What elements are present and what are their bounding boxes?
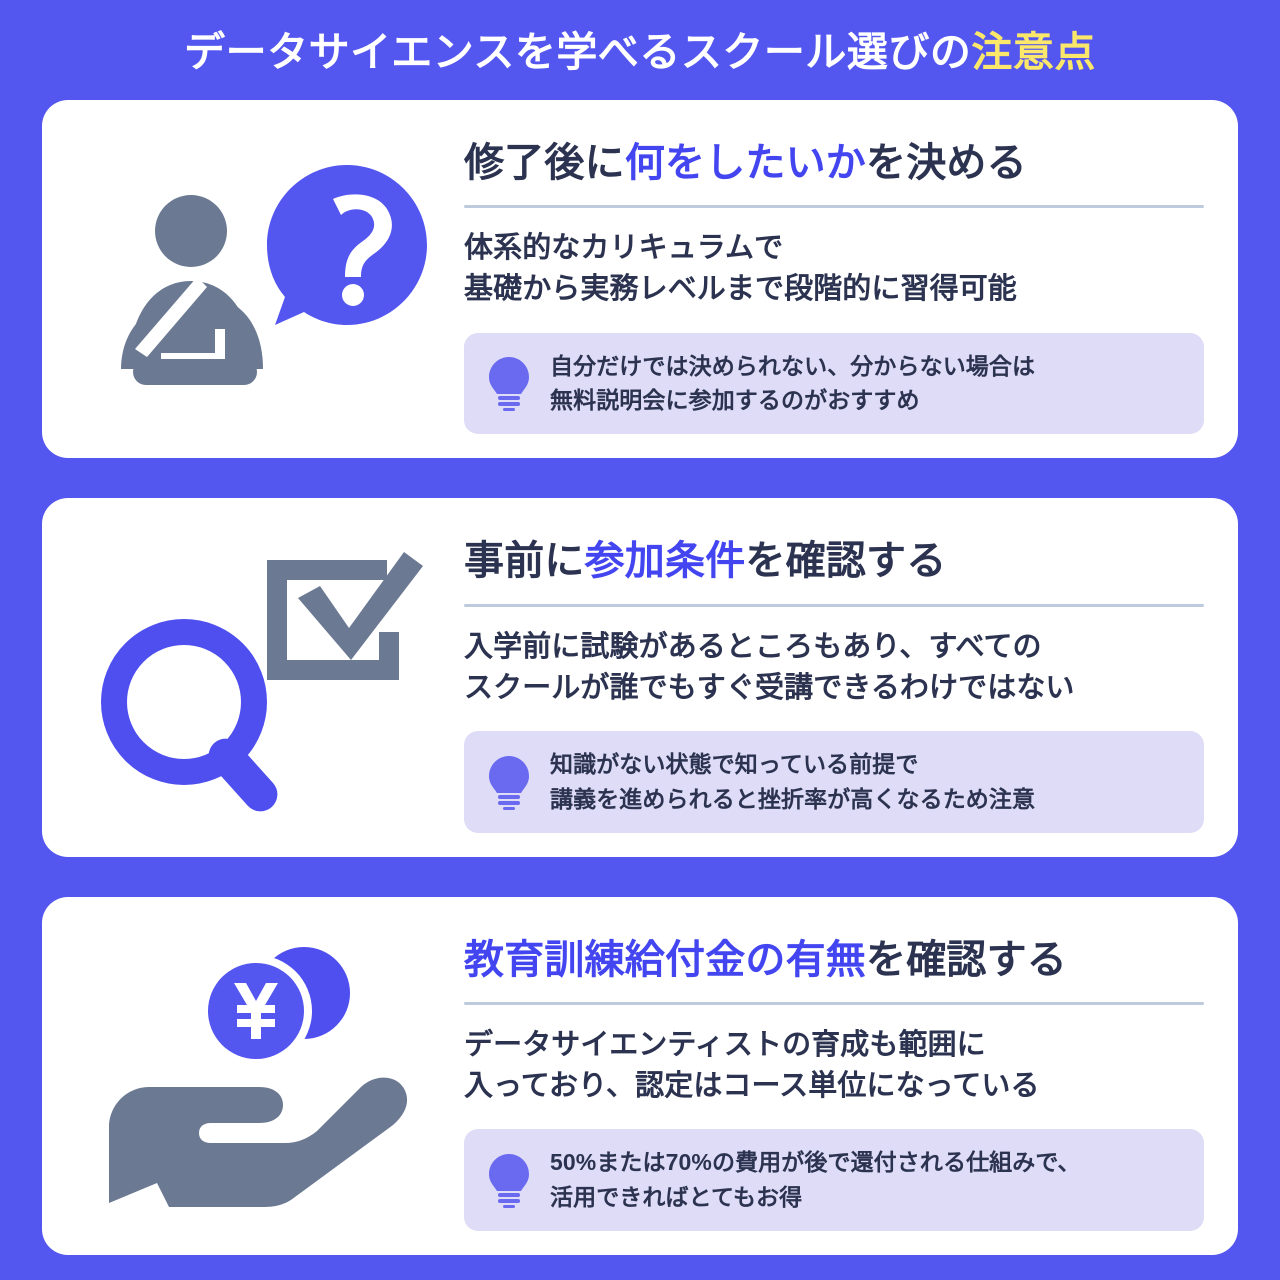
- hand-with-yen-coins-icon: [64, 919, 464, 1231]
- lightbulb-icon: [486, 754, 532, 810]
- page-title-main: データサイエンスを学べるスクール選びの: [184, 29, 971, 75]
- tip-box: 知識がない状態で知っている前提で 講義を進められると挫折率が高くなるため注意: [464, 731, 1204, 833]
- card-item[interactable]: 修了後に何をしたいかを決める 体系的なカリキュラムで 基礎から実務レベルまで段階…: [42, 100, 1238, 458]
- card-heading: 修了後に何をしたいかを決める: [464, 140, 1204, 187]
- card-item[interactable]: 事前に参加条件を確認する 入学前に試験があるところもあり、すべての スクールが誰…: [42, 498, 1238, 856]
- card-body: 事前に参加条件を確認する 入学前に試験があるところもあり、すべての スクールが誰…: [464, 520, 1212, 832]
- card-heading-post: を確認する: [745, 539, 946, 583]
- person-thinking-question-icon: [64, 122, 464, 434]
- card-heading-pre: 事前に: [464, 539, 585, 583]
- tip-box: 自分だけでは決められない、分からない場合は 無料説明会に参加するのがおすすめ: [464, 333, 1204, 435]
- card-description-line1: 体系的なカリキュラムで: [464, 228, 1204, 269]
- lightbulb-icon: [486, 355, 532, 411]
- heading-divider: [464, 1002, 1204, 1005]
- tip-line-1: 50%または70%の費用が後で還付される仕組みで、: [550, 1149, 1081, 1175]
- tip-text: 知識がない状態で知っている前提で 講義を進められると挫折率が高くなるため注意: [550, 747, 1035, 817]
- tip-box: 50%または70%の費用が後で還付される仕組みで、 活用できればとてもお得: [464, 1129, 1204, 1231]
- card-description-line2: 入っており、認定はコース単位になっている: [464, 1066, 1204, 1107]
- card-heading: 教育訓練給付金の有無を確認する: [464, 937, 1204, 984]
- card-heading: 事前に参加条件を確認する: [464, 538, 1204, 585]
- card-heading-post: を決める: [866, 141, 1027, 185]
- magnifier-checkbox-icon: [64, 520, 464, 832]
- infographic-root: データサイエンスを学べるスクール選びの注意点: [0, 0, 1280, 1280]
- card-heading-highlight: 参加条件: [585, 539, 746, 583]
- page-title-accent: 注意点: [971, 29, 1096, 75]
- card-body: 修了後に何をしたいかを決める 体系的なカリキュラムで 基礎から実務レベルまで段階…: [464, 122, 1212, 434]
- card-body: 教育訓練給付金の有無を確認する データサイエンティストの育成も範囲に 入っており…: [464, 919, 1212, 1231]
- tip-line-2: 無料説明会に参加するのがおすすめ: [550, 387, 920, 413]
- card-list: 修了後に何をしたいかを決める 体系的なカリキュラムで 基礎から実務レベルまで段階…: [0, 100, 1280, 1255]
- card-description-line2: スクールが誰でもすぐ受講できるわけではない: [464, 668, 1204, 709]
- card-heading-pre: 修了後に: [464, 141, 625, 185]
- heading-divider: [464, 205, 1204, 208]
- card-description-line2: 基礎から実務レベルまで段階的に習得可能: [464, 269, 1204, 310]
- card-heading-highlight: 教育訓練給付金の有無: [464, 938, 866, 982]
- heading-divider: [464, 604, 1204, 607]
- tip-line-2: 活用できればとてもお得: [550, 1184, 802, 1210]
- card-heading-post: を確認する: [866, 938, 1067, 982]
- card-item[interactable]: 教育訓練給付金の有無を確認する データサイエンティストの育成も範囲に 入っており…: [42, 897, 1238, 1255]
- tip-line-2: 講義を進められると挫折率が高くなるため注意: [550, 786, 1035, 812]
- tip-line-1: 自分だけでは決められない、分からない場合は: [550, 353, 1035, 379]
- page-title-text: データサイエンスを学べるスクール選びの注意点: [184, 32, 1096, 73]
- tip-line-1: 知識がない状態で知っている前提で: [550, 751, 918, 777]
- tip-text: 自分だけでは決められない、分からない場合は 無料説明会に参加するのがおすすめ: [550, 349, 1035, 419]
- card-description-line1: データサイエンティストの育成も範囲に: [464, 1025, 1204, 1066]
- tip-text: 50%または70%の費用が後で還付される仕組みで、 活用できればとてもお得: [550, 1145, 1081, 1215]
- lightbulb-icon: [486, 1152, 532, 1208]
- card-description-line1: 入学前に試験があるところもあり、すべての: [464, 627, 1204, 668]
- page-title: データサイエンスを学べるスクール選びの注意点: [0, 0, 1280, 100]
- card-heading-highlight: 何をしたいか: [625, 141, 866, 185]
